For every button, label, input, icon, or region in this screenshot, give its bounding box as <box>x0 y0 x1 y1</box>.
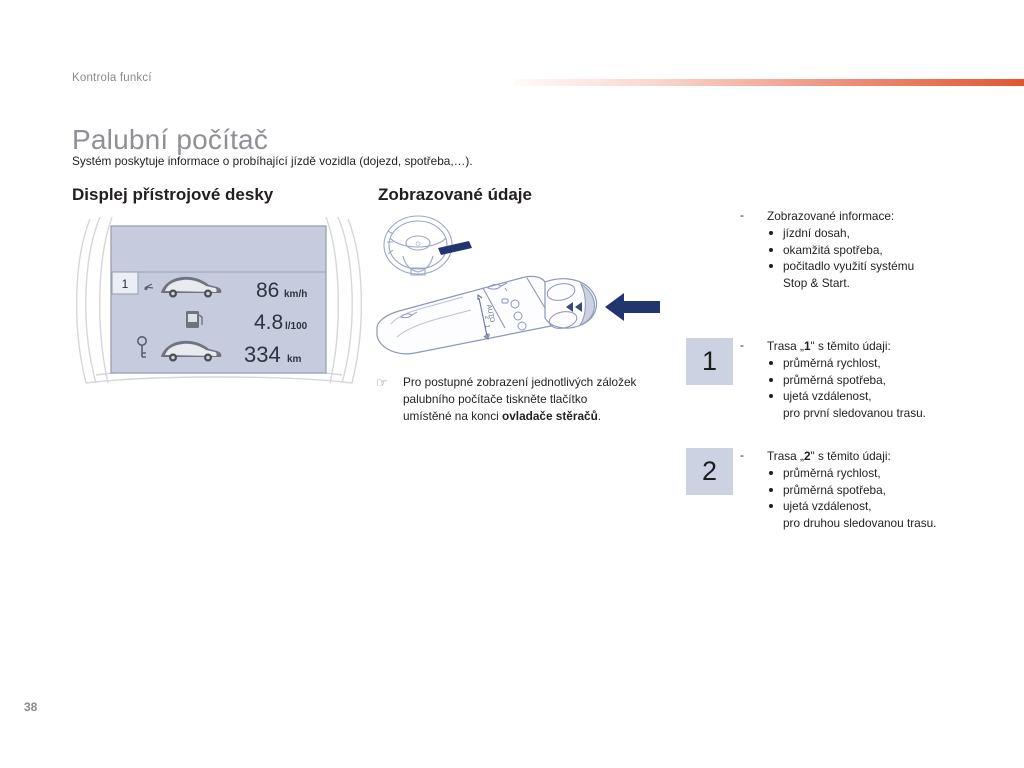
badge-route-1: 1 <box>686 338 733 385</box>
header-accent-rule <box>514 79 1024 86</box>
route-1-list: průměrná rychlost, průměrná spotřeba, uj… <box>767 355 926 422</box>
pointer-arrow <box>605 293 660 321</box>
page-number: 38 <box>24 700 37 714</box>
value-range: 334 <box>244 342 281 367</box>
list-item: průměrná rychlost, <box>767 355 926 372</box>
pointing-hand-icon: ☞ <box>376 376 392 389</box>
route-1-lead-post: " s těmito údaji: <box>811 339 891 353</box>
displayed-info-lead: Zobrazované informace: <box>767 208 914 225</box>
value-consumption: 4.8 <box>254 311 283 334</box>
right-block-route-2: - Trasa „2" s těmito údaji: průměrná ryc… <box>740 448 936 532</box>
list-item: průměrná rychlost, <box>767 465 936 482</box>
running-head: Kontrola funkcí <box>72 72 152 84</box>
list-item: průměrná spotřeba, <box>767 372 926 389</box>
list-dash: - <box>740 338 744 352</box>
route-2-lead: Trasa „2" s těmito údaji: <box>767 448 936 465</box>
heading-displayed-data: Zobrazované údaje <box>378 185 532 205</box>
right-block-displayed-info: - Zobrazované informace: jízdní dosah, o… <box>740 208 914 292</box>
route-2-list: průměrná rychlost, průměrná spotřeba, uj… <box>767 465 936 532</box>
list-item: ujetá vzdálenost, pro druhou sledovanou … <box>767 498 936 532</box>
note-text: Pro postupné zobrazení jednotlivých zálo… <box>403 374 638 424</box>
intro-paragraph: Systém poskytuje informace o probíhající… <box>72 154 473 168</box>
unit-speed: km/h <box>284 289 307 300</box>
route-1-lead: Trasa „1" s těmito údaji: <box>767 338 926 355</box>
list-dash: - <box>740 208 744 222</box>
value-speed: 86 <box>256 279 279 302</box>
note-text-after: . <box>598 409 601 423</box>
unit-range: km <box>287 354 302 365</box>
note-text-bold: ovladače stěračů <box>502 409 598 423</box>
instrument-display-illustration: 1 86 km/h 4.8 l/100 <box>70 215 370 385</box>
badge-route-2: 2 <box>686 448 733 495</box>
note-wiper-button: ☞ Pro postupné zobrazení jednotlivých zá… <box>376 374 638 424</box>
list-item: okamžitá spotřeba, <box>767 242 914 259</box>
route-2-lead-pre: Trasa „ <box>767 449 804 463</box>
list-item: jízdní dosah, <box>767 225 914 242</box>
route-1-lead-pre: Trasa „ <box>767 339 804 353</box>
display-tab-number: 1 <box>122 277 129 291</box>
page-title: Palubní počítač <box>72 124 268 156</box>
displayed-info-list: jízdní dosah, okamžitá spotřeba, počitad… <box>767 225 914 292</box>
heading-instrument-display: Displej přístrojové desky <box>72 185 273 205</box>
unit-consumption: l/100 <box>285 321 308 332</box>
list-dash: - <box>740 448 744 462</box>
list-item: ujetá vzdálenost, pro první sledovanou t… <box>767 388 926 422</box>
svg-text:⊙: ⊙ <box>415 241 421 248</box>
list-item: počitadlo využití systému Stop & Start. <box>767 258 914 292</box>
list-item: průměrná spotřeba, <box>767 482 936 499</box>
right-block-route-1: - Trasa „1" s těmito údaji: průměrná ryc… <box>740 338 926 422</box>
route-2-lead-post: " s těmito údaji: <box>811 449 891 463</box>
wiper-stalk-illustration: ⊙ <box>375 212 660 357</box>
